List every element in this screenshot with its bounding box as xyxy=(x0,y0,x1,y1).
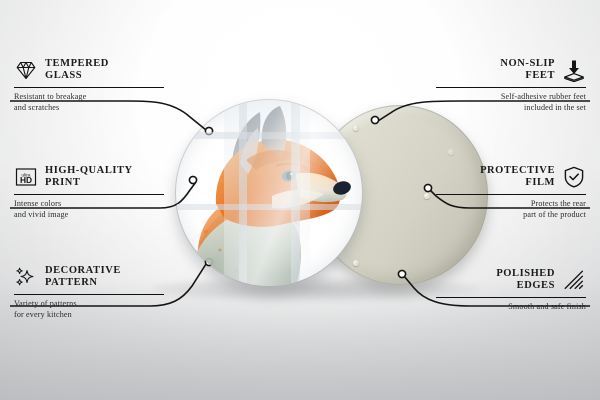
feature-title: POLISHED EDGES xyxy=(496,268,555,293)
feature-title: HIGH-QUALITY PRINT xyxy=(45,165,133,190)
feature-description: Self-adhesive rubber feet included in th… xyxy=(436,92,586,112)
feature-header: TEMPERED GLASS xyxy=(14,58,164,83)
feature-title: DECORATIVE PATTERN xyxy=(45,265,121,290)
arrow-down-pad-icon xyxy=(562,58,586,82)
feature-description: Variety of patterns for every kitchen xyxy=(14,299,164,319)
ultra-hd-icon: ultra HD xyxy=(14,165,38,189)
rubber-foot xyxy=(424,193,430,199)
feature-header: PROTECTIVE FILM xyxy=(436,165,586,190)
feature-rule xyxy=(436,87,586,89)
feature-header: POLISHED EDGES xyxy=(436,268,586,293)
rubber-foot xyxy=(448,149,454,155)
feature-high-quality-print[interactable]: ultra HD HIGH-QUALITY PRINT Intense colo… xyxy=(14,165,164,220)
sparkles-icon xyxy=(14,265,38,289)
window-mullion-vertical xyxy=(291,100,300,286)
feature-header: ultra HD HIGH-QUALITY PRINT xyxy=(14,165,164,190)
feature-tempered-glass[interactable]: TEMPERED GLASS Resistant to breakage and… xyxy=(14,58,164,113)
feature-rule xyxy=(14,87,164,89)
shield-check-icon xyxy=(562,165,586,189)
hatch-triangle-icon xyxy=(562,268,586,292)
feature-protective-film[interactable]: PROTECTIVE FILM Protects the rear part o… xyxy=(436,165,586,220)
feature-rule xyxy=(14,194,164,196)
feature-title: PROTECTIVE FILM xyxy=(480,165,555,190)
window-mullion-horizontal xyxy=(176,204,362,210)
feature-description: Smooth and safe finish xyxy=(436,302,586,312)
feature-non-slip-feet[interactable]: NON-SLIP FEET Self-adhesive rubber feet … xyxy=(436,58,586,113)
feature-title: NON-SLIP FEET xyxy=(500,58,555,83)
front-disc-with-artwork xyxy=(176,100,362,286)
diamond-icon xyxy=(14,58,38,82)
feature-rule xyxy=(14,294,164,296)
feature-header: DECORATIVE PATTERN xyxy=(14,265,164,290)
feature-description: Resistant to breakage and scratches xyxy=(14,92,164,112)
feature-header: NON-SLIP FEET xyxy=(436,58,586,83)
infographic-stage: TEMPERED GLASS Resistant to breakage and… xyxy=(0,0,600,400)
feature-title: TEMPERED GLASS xyxy=(45,58,109,83)
window-mullion-vertical xyxy=(239,100,247,286)
feature-description: Intense colors and vivid image xyxy=(14,199,164,219)
window-mullion-horizontal xyxy=(176,132,362,139)
feature-rule xyxy=(436,194,586,196)
feature-polished-edges[interactable]: POLISHED EDGES Smooth and safe finish xyxy=(436,268,586,313)
feature-decorative-pattern[interactable]: DECORATIVE PATTERN Variety of patterns f… xyxy=(14,265,164,320)
feature-rule xyxy=(436,297,586,299)
feature-description: Protects the rear part of the product xyxy=(436,199,586,219)
svg-text:HD: HD xyxy=(20,176,32,186)
